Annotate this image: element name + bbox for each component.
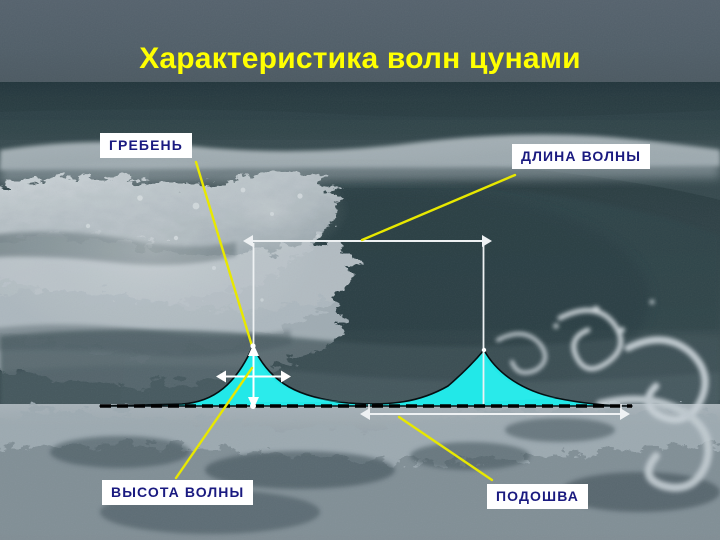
slide-canvas: Характеристика волн цунами ГРЕБЕНЬ ДЛИНА…: [0, 0, 720, 540]
page-title: Характеристика волн цунами: [0, 42, 720, 76]
leader-lines: [176, 162, 515, 480]
label-trough: ПОДОШВА: [487, 484, 588, 509]
wave-profile-shape: [100, 346, 632, 406]
tsunami-wave-diagram: [0, 0, 720, 540]
leader-line-podoshva: [399, 417, 492, 480]
leader-line-dlina: [362, 175, 515, 240]
wavelength-measure: [253, 241, 484, 404]
label-wavelength: ДЛИНА ВОЛНЫ: [512, 144, 650, 169]
label-crest: ГРЕБЕНЬ: [100, 133, 192, 158]
leader-line-greben: [196, 162, 252, 346]
label-wave-height: ВЫСОТА ВОЛНЫ: [102, 480, 253, 505]
leader-line-vysota: [176, 368, 252, 478]
